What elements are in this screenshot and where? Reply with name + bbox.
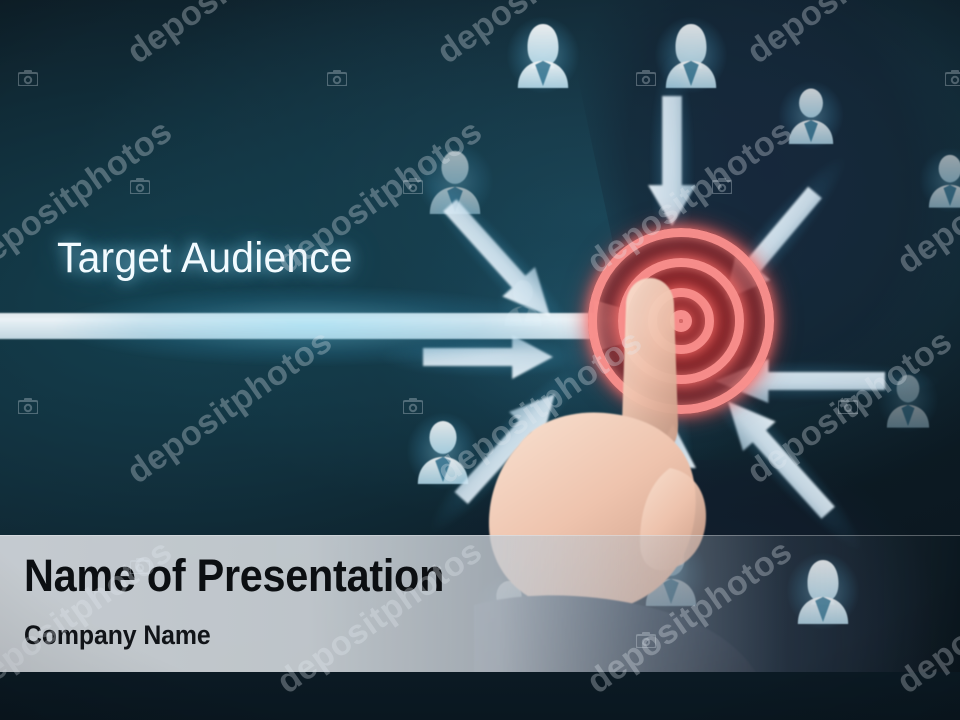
company-name: Company Name xyxy=(24,620,211,651)
slide-canvas: Target Audience xyxy=(0,0,960,720)
person-icon-top-center[interactable] xyxy=(512,22,574,88)
person-icon-right-edge[interactable] xyxy=(924,152,960,208)
headline-target-audience: Target Audience xyxy=(57,234,353,283)
bottom-strip xyxy=(0,672,960,720)
presentation-title: Name of Presentation xyxy=(24,550,444,602)
